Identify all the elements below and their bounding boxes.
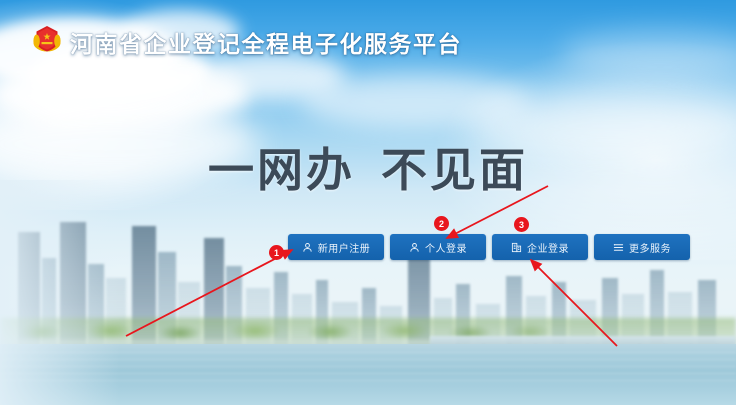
personal-login-button[interactable]: 个人登录 [390,234,486,260]
page-root: 河南省企业登记全程电子化服务平台 一网办不见面 新用户注册 个人登录 [0,0,736,405]
annotation-marker-2: 2 [434,216,449,231]
list-icon [613,242,624,253]
background-vignette [0,180,120,405]
annotation-marker-3: 3 [514,217,529,232]
action-button-row: 新用户注册 个人登录 企业登录 [288,234,690,260]
page-title: 河南省企业登记全程电子化服务平台 [70,25,462,59]
headline-part-1: 一网办 [208,144,355,196]
hero-headline: 一网办不见面 [0,134,736,200]
more-services-label: 更多服务 [629,240,671,255]
annotation-marker-1: 1 [269,245,284,260]
china-government-emblem-icon [30,22,64,56]
enterprise-login-button[interactable]: 企业登录 [492,234,588,260]
user-icon [302,242,313,253]
personal-login-label: 个人登录 [425,240,467,255]
new-user-register-button[interactable]: 新用户注册 [288,234,384,260]
user-icon [409,242,420,253]
enterprise-login-label: 企业登录 [527,240,569,255]
headline-part-2: 不见面 [381,144,528,196]
site-header: 河南省企业登记全程电子化服务平台 [0,0,736,62]
more-services-button[interactable]: 更多服务 [594,234,690,260]
new-user-register-label: 新用户注册 [318,240,371,255]
building-icon [511,242,522,253]
